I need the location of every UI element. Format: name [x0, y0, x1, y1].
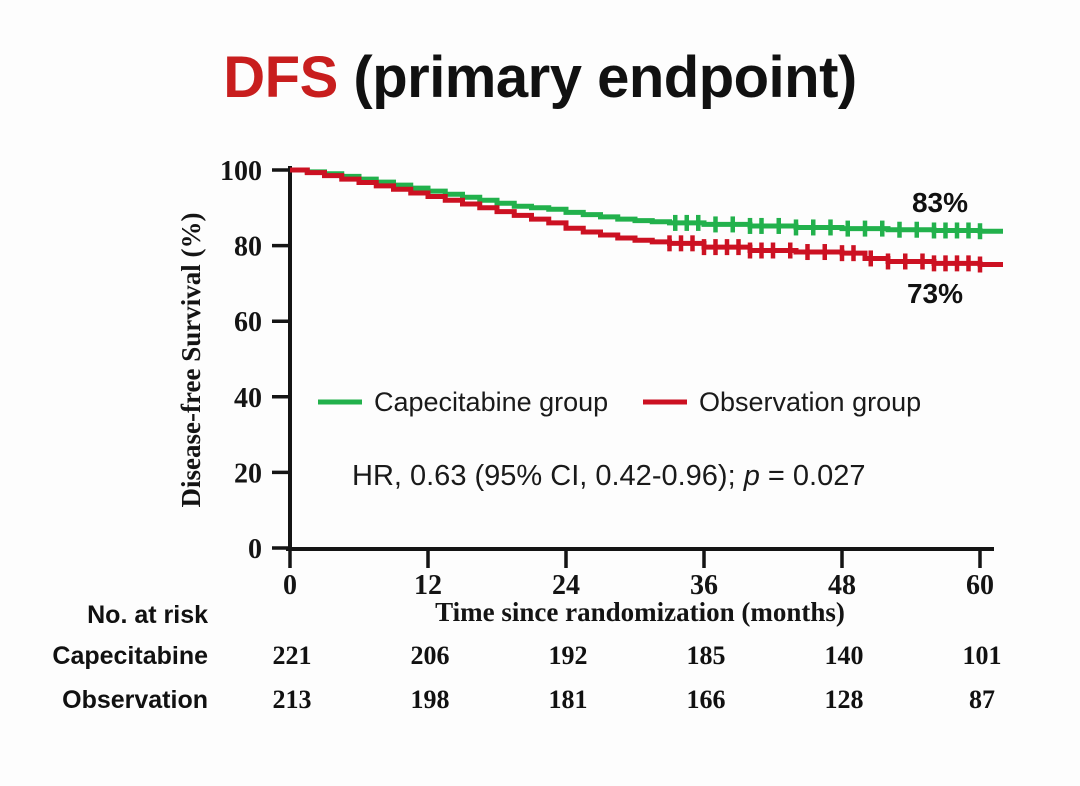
risk-value: 221 — [273, 641, 312, 670]
chart-page: DFS (primary endpoint) 020406080100 0122… — [0, 0, 1080, 786]
risk-table-values: 22120619218514010121319818116612887 — [273, 641, 1002, 714]
x-axis-title: Time since randomization (months) — [435, 597, 845, 627]
y-tick-label-80: 80 — [234, 232, 262, 263]
x-axis-ticks: 01224364860 — [283, 549, 994, 601]
stat-prefix: HR, 0.63 (95% CI, 0.42-0.96); — [352, 460, 744, 492]
y-axis-title: Disease-free Survival (%) — [176, 213, 206, 508]
risk-value: 198 — [411, 685, 450, 714]
risk-table-heading: No. at risk — [87, 601, 208, 629]
risk-value: 140 — [825, 641, 864, 670]
hazard-ratio-statistic: HR, 0.63 (95% CI, 0.42-0.96); p = 0.027 — [352, 460, 865, 492]
risk-value: 101 — [963, 641, 1002, 670]
risk-value: 206 — [411, 641, 450, 670]
risk-value: 87 — [969, 685, 995, 714]
risk-value: 192 — [549, 641, 588, 670]
y-axis-ticks: 020406080100 — [220, 156, 290, 565]
y-tick-label-20: 20 — [234, 458, 262, 489]
y-tick-label-100: 100 — [220, 156, 262, 187]
legend-label-observation: Observation group — [699, 387, 921, 417]
censor-marks — [670, 215, 981, 273]
risk-row-label-observation: Observation — [62, 686, 208, 714]
risk-value: 166 — [687, 685, 726, 714]
capecitabine-percent-label: 83% — [912, 187, 968, 218]
risk-value: 185 — [687, 641, 726, 670]
y-tick-label-40: 40 — [234, 383, 262, 414]
risk-value: 128 — [825, 685, 864, 714]
y-tick-label-0: 0 — [248, 534, 262, 565]
stat-suffix: = 0.027 — [760, 460, 866, 492]
risk-row-label-capecitabine: Capecitabine — [52, 642, 208, 670]
x-tick-label-60: 60 — [966, 570, 994, 601]
risk-value: 181 — [549, 685, 588, 714]
x-tick-label-0: 0 — [283, 570, 297, 601]
legend-label-capecitabine: Capecitabine group — [374, 387, 608, 417]
risk-value: 213 — [273, 685, 312, 714]
kaplan-meier-plot: 020406080100 01224364860 Disease-free Su… — [0, 0, 1080, 786]
y-tick-label-60: 60 — [234, 307, 262, 338]
survival-curves — [290, 170, 1003, 265]
observation-percent-label: 73% — [907, 278, 963, 309]
curve-capecitabine — [290, 170, 1003, 231]
legend: Capecitabine group Observation group — [318, 387, 921, 417]
stat-p-symbol: p — [743, 460, 760, 492]
